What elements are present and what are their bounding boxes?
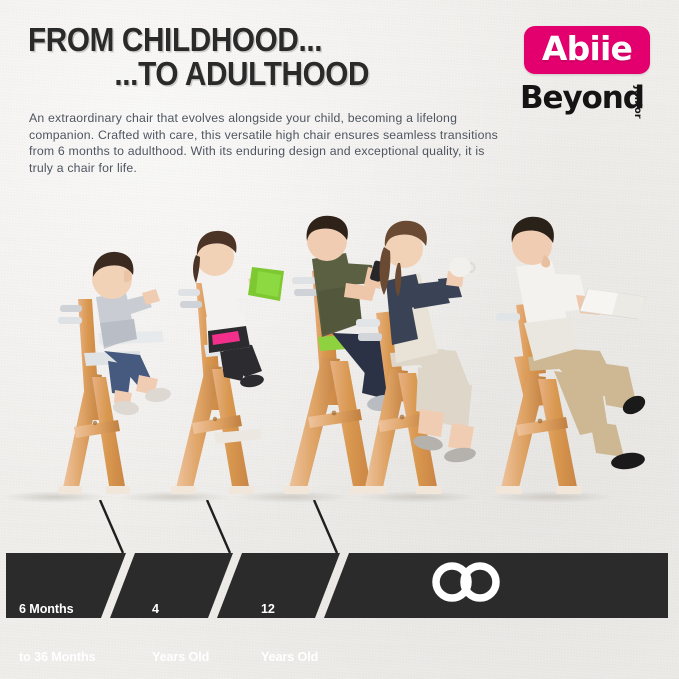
age-timeline: 6 Months to 36 Months 4 Years Old 12 Yea… bbox=[0, 500, 679, 630]
timeline-bar bbox=[6, 553, 668, 618]
junior-wordmark: Junior bbox=[632, 86, 643, 119]
timeline-label-2: 4 Years Old bbox=[152, 569, 209, 679]
abiie-badge: Abiie bbox=[524, 26, 650, 74]
timeline-label-2-line-2: Years Old bbox=[152, 649, 209, 665]
abiie-wordmark: Abiie bbox=[524, 26, 650, 74]
headline: FROM CHILDHOOD... ...TO ADULTHOOD bbox=[28, 24, 433, 90]
beyond-wordmark: Beyond bbox=[520, 80, 644, 116]
figures-stage bbox=[0, 205, 679, 505]
body-paragraph: An extraordinary chair that evolves alon… bbox=[29, 110, 499, 176]
headline-line-1: FROM CHILDHOOD... bbox=[28, 24, 433, 57]
timeline-label-3-line-1: 12 bbox=[261, 601, 318, 617]
brand-logo: Abiie Beyond Junior bbox=[512, 26, 667, 124]
timeline-label-3: 12 Years Old bbox=[261, 569, 318, 679]
timeline-label-1-line-1: 6 Months bbox=[19, 601, 95, 617]
timeline-label-1-line-2: to 36 Months bbox=[19, 649, 95, 665]
headline-line-2: ...TO ADULTHOOD bbox=[28, 58, 433, 91]
timeline-leader-lines bbox=[100, 500, 337, 553]
timeline-label-1: 6 Months to 36 Months bbox=[19, 569, 95, 679]
timeline-label-2-line-1: 4 bbox=[152, 601, 209, 617]
poster-canvas: FROM CHILDHOOD... ...TO ADULTHOOD An ext… bbox=[0, 0, 679, 679]
figure-man bbox=[490, 217, 648, 503]
figure-toddler bbox=[3, 252, 172, 503]
timeline-label-3-line-2: Years Old bbox=[261, 649, 318, 665]
